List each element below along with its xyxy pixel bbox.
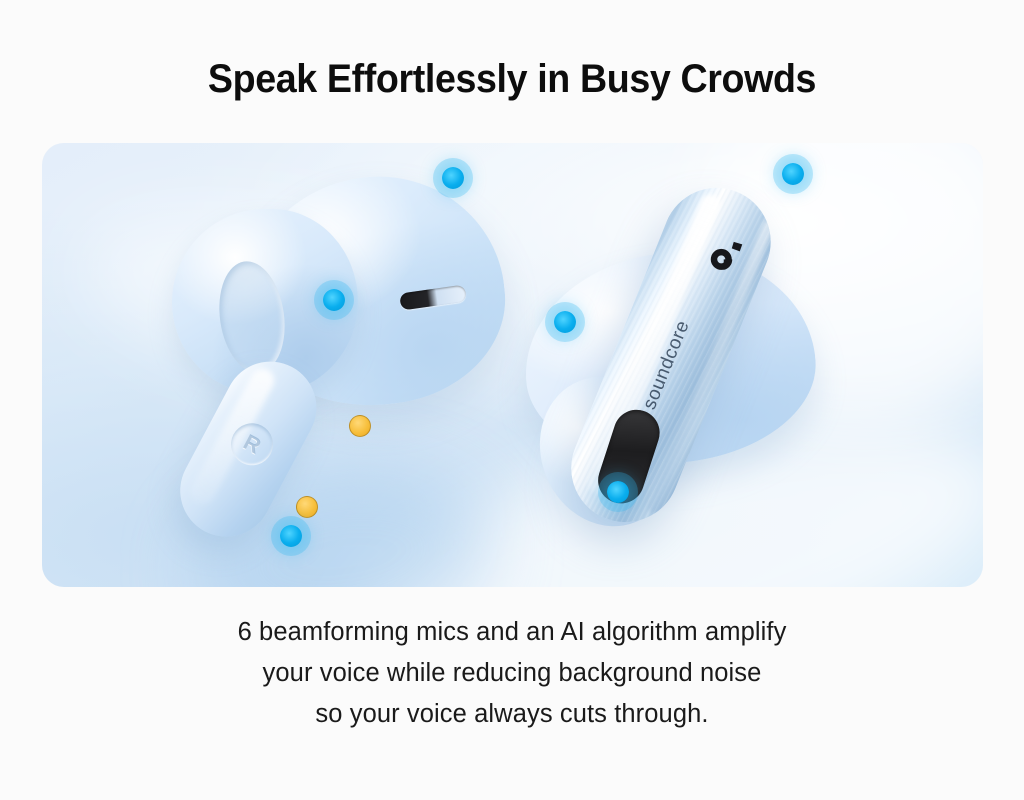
hero-image-panel: R — [42, 143, 983, 587]
soundcore-logo-icon — [701, 238, 747, 278]
page-title: Speak Effortlessly in Busy Crowds — [31, 56, 994, 103]
feature-caption: 6 beamforming mics and an AI algorithm a… — [0, 612, 1024, 735]
mic-indicator-dot-amber — [296, 496, 318, 518]
mic-indicator-dot-cyan — [607, 481, 629, 503]
product-feature-page: Speak Effortlessly in Busy Crowds R — [0, 0, 1024, 800]
caption-line-3: so your voice always cuts through. — [0, 694, 1024, 735]
mic-indicator-dot-cyan — [280, 525, 302, 547]
mic-indicator-dot-cyan — [323, 289, 345, 311]
mic-indicator-dot-cyan — [554, 311, 576, 333]
ear-tip-indent — [213, 257, 292, 377]
right-earbud: soundcore — [497, 161, 897, 561]
mic-indicator-dot-amber — [349, 415, 371, 437]
left-earbud: R — [172, 171, 532, 551]
mic-indicator-dot-cyan — [782, 163, 804, 185]
mic-indicator-dot-cyan — [442, 167, 464, 189]
caption-line-2: your voice while reducing background noi… — [0, 653, 1024, 694]
caption-line-1: 6 beamforming mics and an AI algorithm a… — [0, 612, 1024, 653]
